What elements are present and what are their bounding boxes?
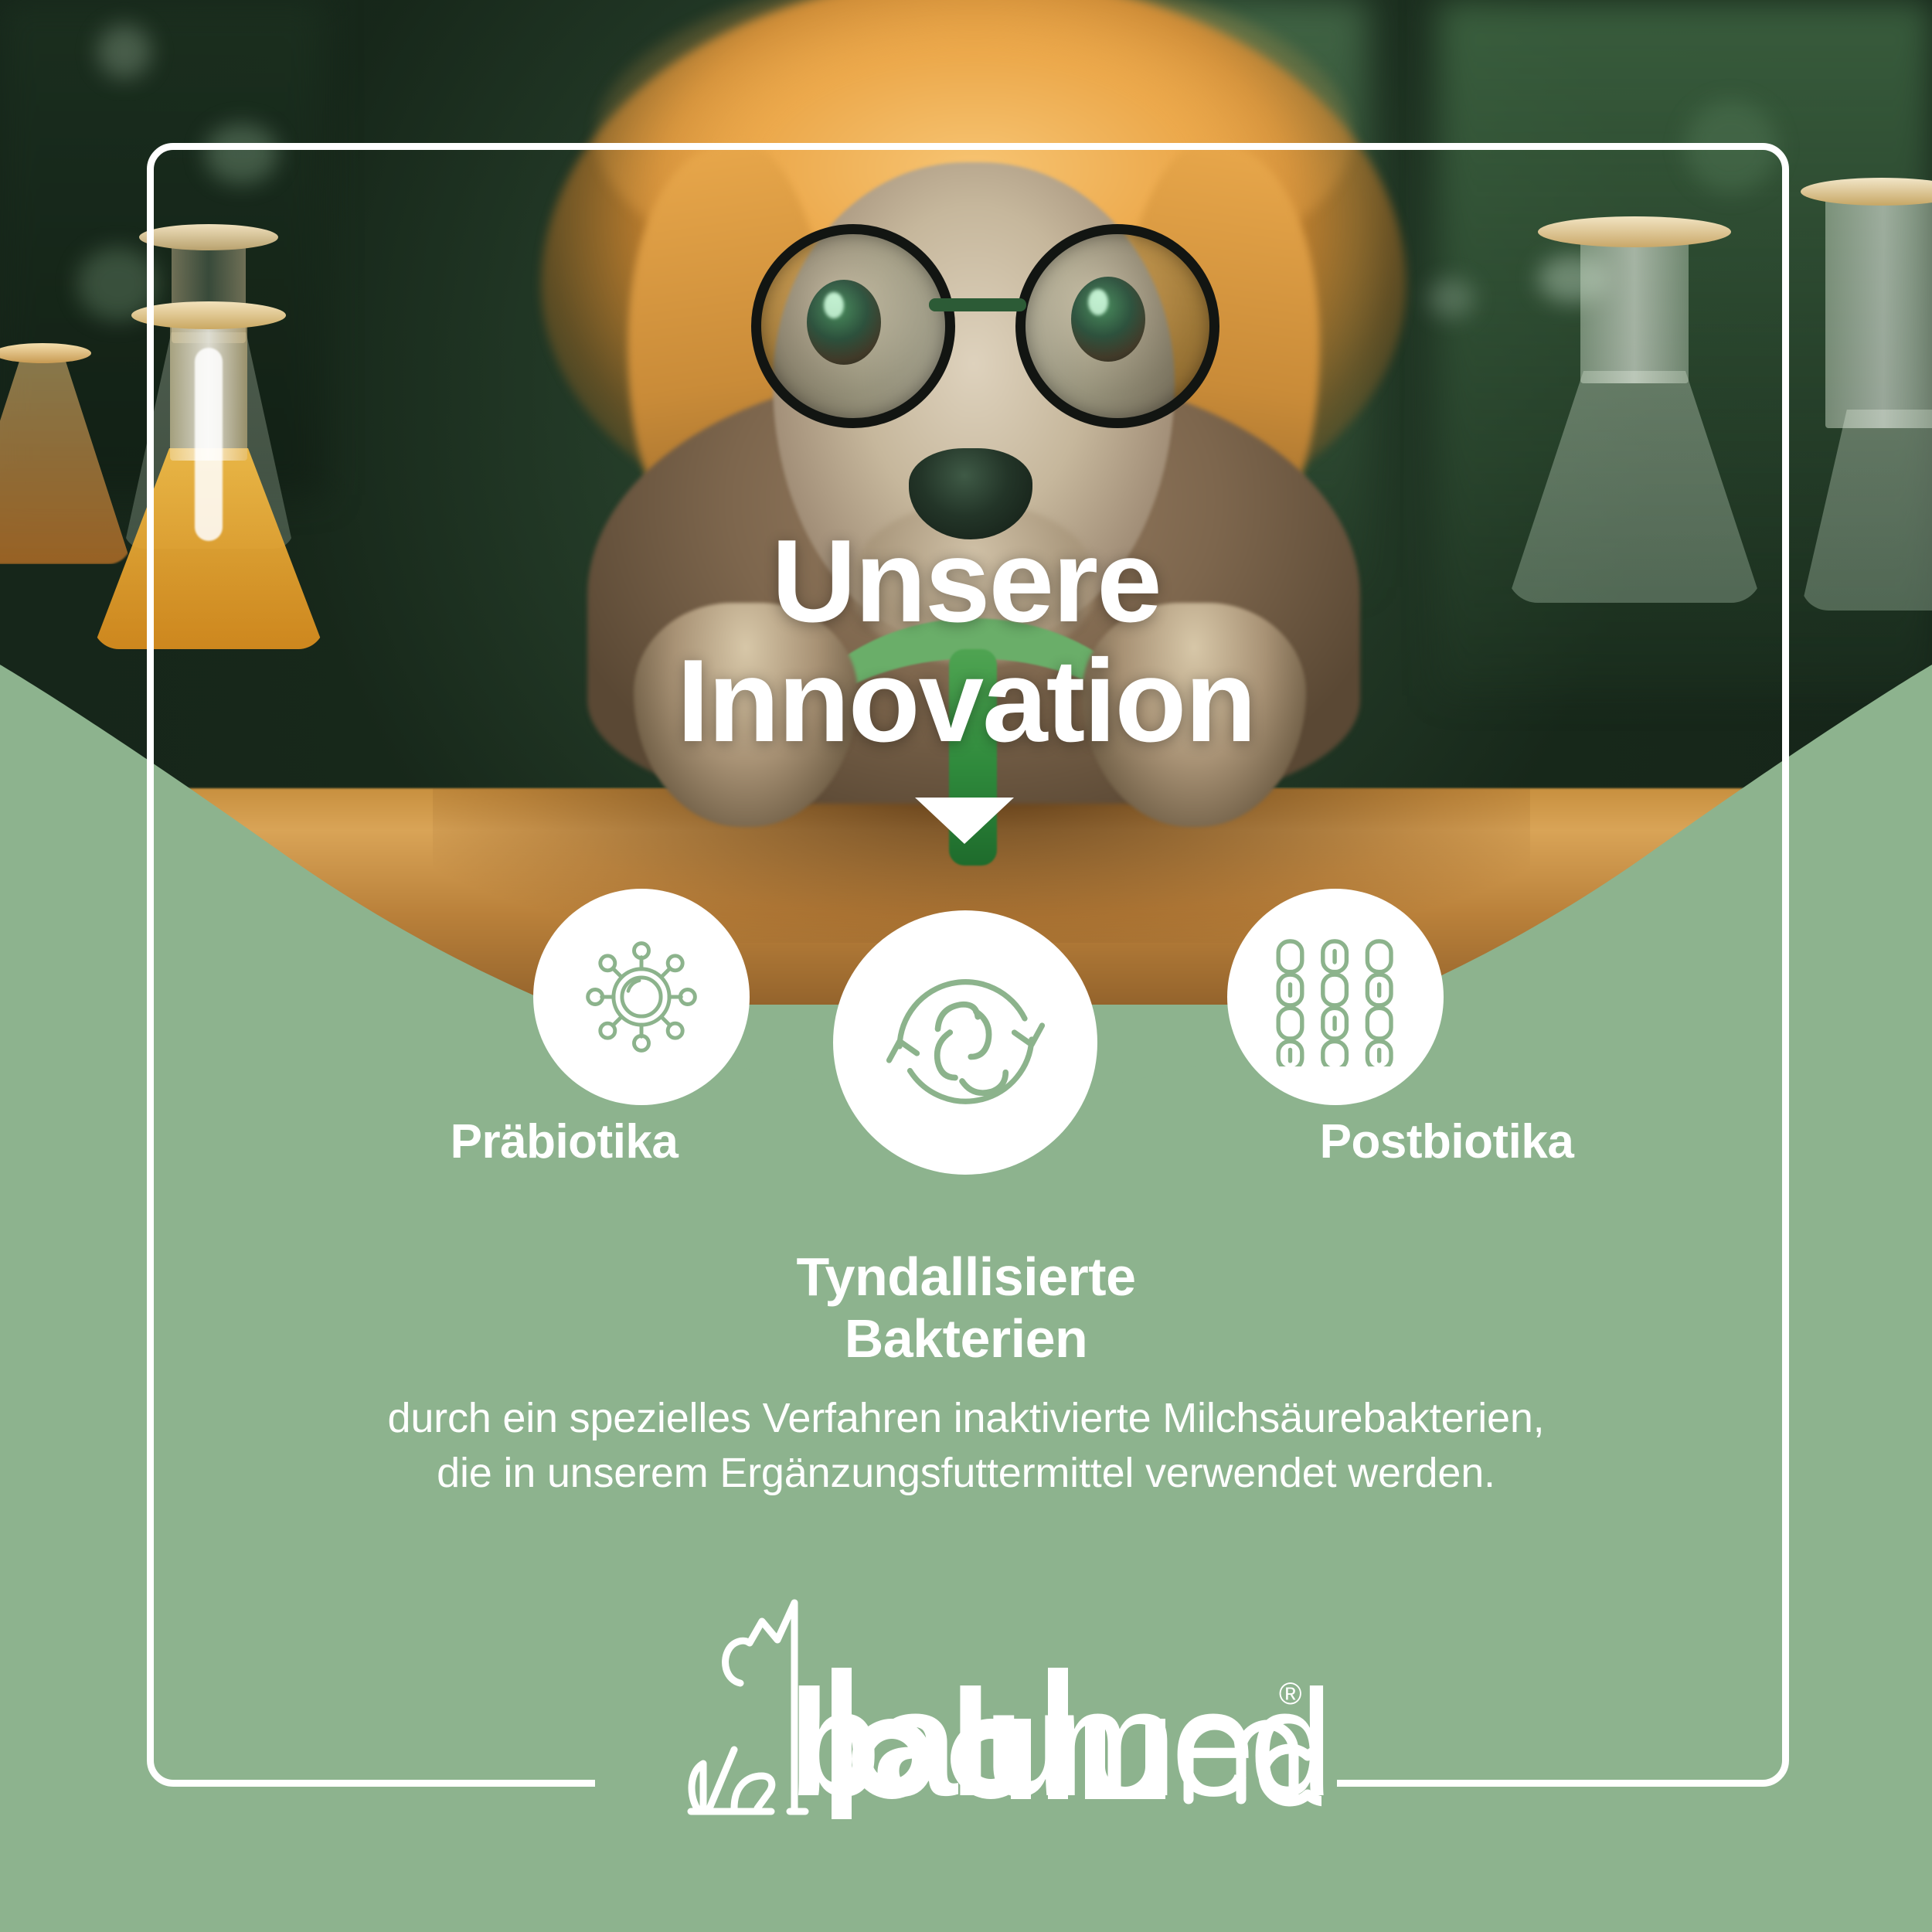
probiotic-recycle-arrows-icon: [879, 956, 1053, 1130]
promo-graphic: Unsere Innovation: [0, 0, 1932, 1932]
feature-label-prebiotics: Präbiotika: [348, 1114, 781, 1169]
bokeh-light: [205, 124, 278, 184]
feature-label-postbiotics: Postbiotika: [1230, 1114, 1663, 1169]
brand-logo: balu med ®: [611, 1577, 1321, 1843]
page-title: Unsere Innovation: [0, 522, 1932, 761]
virus-microbe-icon: [568, 923, 715, 1070]
subheading-line-2: Bakterien: [0, 1308, 1932, 1370]
body-line-2: die in unserem Ergänzungsfuttermittel ve…: [193, 1446, 1739, 1501]
bokeh-light: [1685, 100, 1777, 193]
bokeh-light: [97, 25, 151, 79]
glasses-lens-left: [751, 224, 955, 428]
section-body-text: durch ein spezielles Verfahren inaktivie…: [193, 1391, 1739, 1502]
glasses-bridge: [929, 298, 1026, 311]
section-subheading: Tyndallisierte Bakterien: [0, 1247, 1932, 1370]
body-line-1: durch ein spezielles Verfahren inaktivie…: [193, 1391, 1739, 1446]
subheading-line-1: Tyndallisierte: [0, 1247, 1932, 1308]
feature-circle-prebiotics: [533, 889, 750, 1105]
headline-line-1: Unsere: [0, 522, 1932, 641]
feature-circle-postbiotics: [1227, 889, 1444, 1105]
logo-text-bold: balu: [788, 1668, 1069, 1819]
bacteria-rods-icon: [1266, 927, 1405, 1066]
round-glasses-icon: [743, 224, 1207, 417]
logo-registered-mark: ®: [1279, 1677, 1301, 1712]
feature-circle-probiotics: [833, 910, 1097, 1175]
bokeh-light: [1428, 278, 1475, 318]
arrow-down-icon: [915, 798, 1014, 844]
headline-line-2: Innovation: [0, 641, 1932, 761]
glasses-lens-right: [1015, 224, 1219, 428]
